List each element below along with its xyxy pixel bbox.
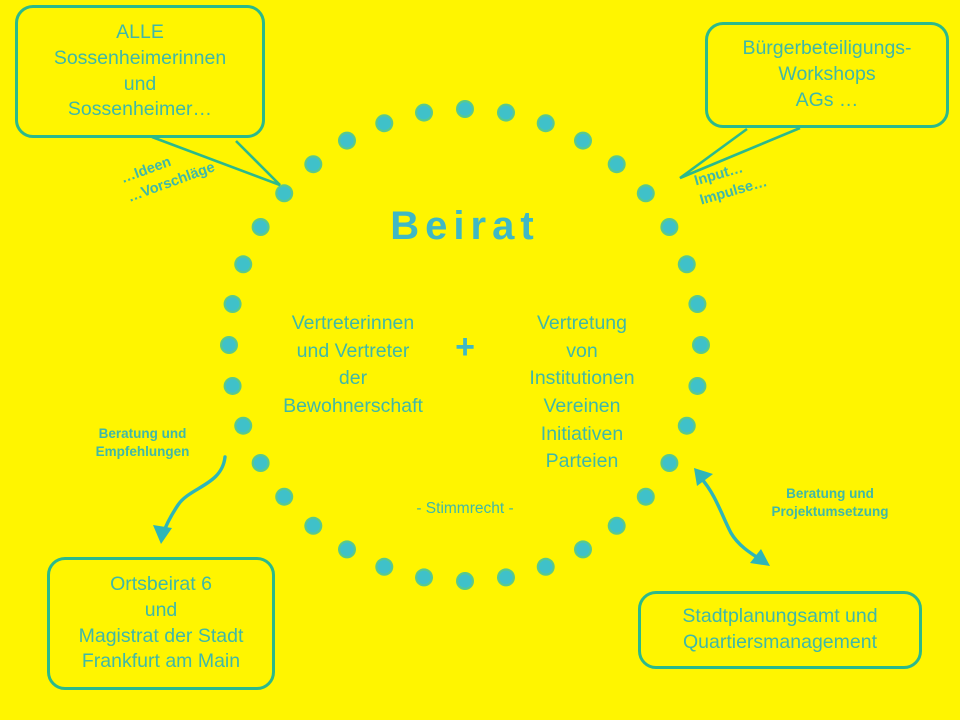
ring-dot xyxy=(226,297,240,311)
ring-dot xyxy=(639,187,653,201)
ring-dot xyxy=(226,379,240,393)
ring-dot xyxy=(222,338,236,352)
ring-dot xyxy=(307,519,321,533)
ring-dot xyxy=(458,574,472,588)
ring-dot xyxy=(236,257,250,271)
ring-dot xyxy=(539,560,553,574)
ring-dot xyxy=(236,419,250,433)
ring-dot xyxy=(340,134,354,148)
center-right-column: Vertretung von Institutionen Vereinen In… xyxy=(492,310,672,476)
ring-dot xyxy=(277,187,291,201)
ring-dot xyxy=(377,116,391,130)
ring-dot xyxy=(458,102,472,116)
arrow-projektumsetzung-head-down xyxy=(750,549,770,566)
ring-dot xyxy=(340,543,354,557)
ring-dot xyxy=(639,490,653,504)
ring-dot xyxy=(377,560,391,574)
ring-dot xyxy=(610,519,624,533)
ring-dot xyxy=(691,379,705,393)
ring-dot xyxy=(499,106,513,120)
ring-dot xyxy=(576,543,590,557)
ring-dot xyxy=(610,157,624,171)
stimmrecht-footnote: - Stimmrecht - xyxy=(365,500,565,518)
speech-bubble-workshops[interactable]: Bürgerbeteiligungs- Workshops AGs … xyxy=(705,22,949,128)
label-beratung-empfehlungen: Beratung und Empfehlungen xyxy=(75,425,210,461)
ring-dot xyxy=(691,297,705,311)
center-left-column: Vertreterinnen und Vertreter der Bewohne… xyxy=(263,310,443,421)
ring-dot xyxy=(499,571,513,585)
arrow-beratung-empfehlungen-head xyxy=(153,525,172,544)
ring-dot xyxy=(576,134,590,148)
ring-dot xyxy=(680,257,694,271)
speech-bubble-citizens[interactable]: ALLE Sossenheimerinnen und Sossenheimer… xyxy=(15,5,265,138)
page-title: Beirat xyxy=(330,204,600,249)
ring-dot xyxy=(417,106,431,120)
ring-dot xyxy=(277,490,291,504)
ring-dot xyxy=(417,571,431,585)
ring-dot xyxy=(254,220,268,234)
ring-dot xyxy=(663,220,677,234)
ring-dot xyxy=(539,116,553,130)
ring-dot xyxy=(307,157,321,171)
ring-dot xyxy=(680,419,694,433)
ring-dot xyxy=(254,456,268,470)
plus-icon: + xyxy=(448,330,482,364)
label-beratung-projektumsetzung: Beratung und Projektumsetzung xyxy=(745,485,915,521)
box-ortsbeirat[interactable]: Ortsbeirat 6 und Magistrat der Stadt Fra… xyxy=(47,557,275,690)
arrow-beratung-empfehlungen xyxy=(163,457,225,534)
diagram-canvas: ALLE Sossenheimerinnen und Sossenheimer…… xyxy=(0,0,960,720)
ring-dot xyxy=(694,338,708,352)
box-stadtplanungsamt[interactable]: Stadtplanungsamt und Quartiersmanagement xyxy=(638,591,922,669)
